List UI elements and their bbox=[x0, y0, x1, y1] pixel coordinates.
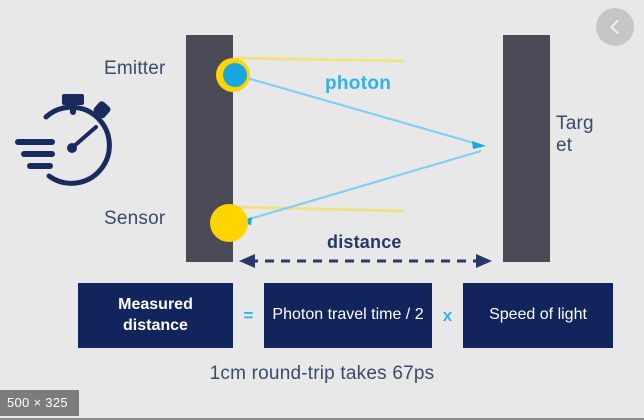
distance-label: distance bbox=[327, 232, 402, 253]
emitter-dot bbox=[223, 63, 247, 87]
diagram-stage: Emitter Sensor Target photon distance Me… bbox=[0, 0, 644, 420]
sensor-dot bbox=[210, 204, 248, 242]
previous-image-button[interactable] bbox=[596, 8, 634, 46]
sensor-guide-line bbox=[233, 207, 404, 211]
photon-ray-outgoing-arrowhead bbox=[472, 141, 486, 149]
photon-travel-time-box: Photon travel time / 2 bbox=[264, 283, 432, 348]
stopwatch-icon bbox=[18, 94, 110, 183]
diagram-graphics bbox=[0, 0, 644, 420]
distance-arrow-left-head bbox=[239, 254, 255, 268]
emitter-label: Emitter bbox=[104, 58, 166, 80]
formula-row: Measured distance = Photon travel time /… bbox=[78, 283, 613, 348]
sensor-label: Sensor bbox=[104, 208, 165, 230]
target-wall bbox=[503, 35, 550, 262]
speed-of-light-box: Speed of light bbox=[463, 283, 613, 348]
distance-arrow-right-head bbox=[476, 254, 492, 268]
measured-distance-box: Measured distance bbox=[78, 283, 233, 348]
equals-operator: = bbox=[236, 306, 262, 326]
chevron-left-icon bbox=[605, 17, 625, 37]
image-size-badge: 500 × 325 bbox=[0, 390, 79, 416]
photon-label: photon bbox=[325, 73, 391, 95]
emitter-guide-line bbox=[235, 58, 404, 61]
caption-text: 1cm round-trip takes 67ps bbox=[0, 363, 644, 385]
times-operator: x bbox=[435, 306, 461, 326]
image-viewer: Emitter Sensor Target photon distance Me… bbox=[0, 0, 644, 420]
target-label: Target bbox=[556, 113, 602, 157]
